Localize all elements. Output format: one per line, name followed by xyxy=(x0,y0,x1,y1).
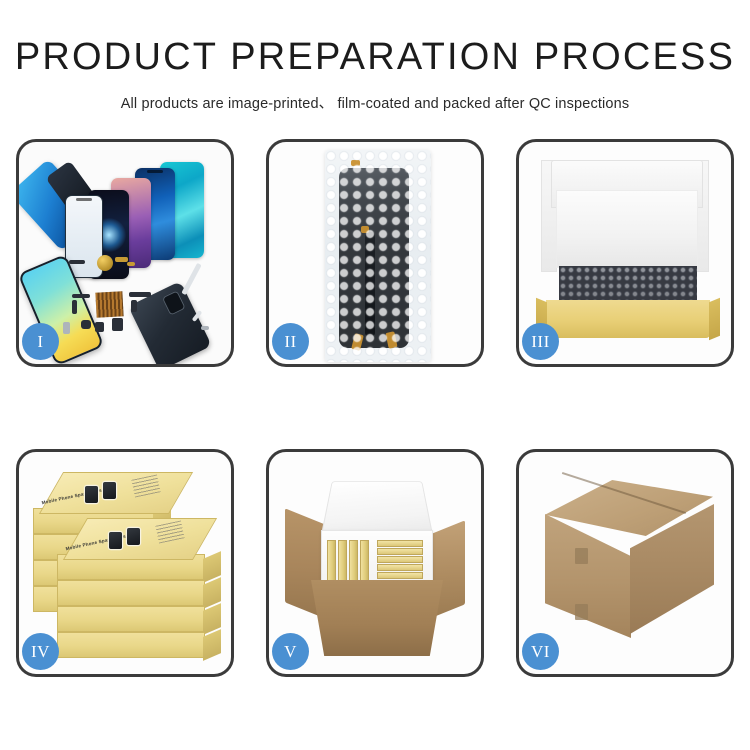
process-step-panel-1: I xyxy=(16,139,234,367)
retail-box-flat xyxy=(377,572,423,579)
part-sim-tray xyxy=(63,322,70,334)
part-strip xyxy=(69,260,85,264)
step-badge-5: V xyxy=(272,633,309,670)
retail-box-flat xyxy=(377,548,423,555)
step-badge-2: II xyxy=(272,323,309,360)
part-button xyxy=(81,320,91,329)
box-screen-print-d xyxy=(127,528,140,545)
part-cable-arm xyxy=(72,300,77,314)
bubble-texture xyxy=(325,150,431,362)
carton-body xyxy=(311,580,443,656)
part-connector xyxy=(127,262,135,266)
box-screen-print-c xyxy=(109,532,122,549)
header: PRODUCT PREPARATION PROCESS All products… xyxy=(0,0,750,113)
retail-box-flat xyxy=(377,540,423,547)
page-subtitle: All products are image-printed、 film-coa… xyxy=(0,92,750,113)
camera-module-icon xyxy=(162,290,186,315)
box-screen-print-a xyxy=(85,486,98,503)
part-flex-gold xyxy=(115,257,128,262)
box-layer xyxy=(57,632,205,658)
process-step-panel-2: II xyxy=(266,139,484,367)
step-badge-4: IV xyxy=(22,633,59,670)
retail-box-upright xyxy=(349,540,358,582)
speaker-module xyxy=(97,255,113,271)
box-top-front xyxy=(63,518,217,560)
part-vibrator xyxy=(95,322,104,332)
part-ribbon xyxy=(129,292,151,297)
bubble-wrap-bag xyxy=(325,150,431,362)
retail-box-upright xyxy=(338,540,347,582)
notch-icon xyxy=(147,170,163,173)
carton-tape-patch-lower xyxy=(575,604,588,620)
retail-box-upright xyxy=(327,540,336,582)
product-preparation-process-infographic: PRODUCT PREPARATION PROCESS All products… xyxy=(0,0,750,750)
tweezers-icon xyxy=(181,263,201,295)
box-stack: Mobile Phone Spare Parts Mobile Phone Sp… xyxy=(27,468,227,664)
step-badge-1: I xyxy=(22,323,59,360)
part-cable xyxy=(72,294,90,298)
yellow-box-front xyxy=(546,300,710,338)
page-title: PRODUCT PREPARATION PROCESS xyxy=(0,38,750,78)
screw-tray xyxy=(95,291,123,317)
process-step-grid: I II xyxy=(16,139,734,677)
process-step-panel-5: V xyxy=(266,449,484,677)
notch-icon xyxy=(76,198,92,201)
box-layer xyxy=(57,580,205,606)
retail-box-flat xyxy=(377,556,423,563)
step-badge-3: III xyxy=(522,323,559,360)
box-layer xyxy=(57,606,205,632)
step-badge-6: VI xyxy=(522,633,559,670)
process-step-panel-4: Mobile Phone Spare Parts Mobile Phone Sp… xyxy=(16,449,234,677)
part-screws xyxy=(201,326,209,330)
carton-tape-patch-upper xyxy=(575,548,588,564)
carton-left-face xyxy=(545,514,631,638)
retail-box-upright xyxy=(360,540,369,582)
white-foam-sheet xyxy=(556,190,698,268)
process-step-panel-3: III xyxy=(516,139,734,367)
dark-foam-insert xyxy=(559,266,697,302)
process-step-panel-6: VI xyxy=(516,449,734,677)
retail-box-flat xyxy=(377,564,423,571)
part-ribbon-arm xyxy=(131,300,137,312)
part-camera xyxy=(112,318,123,331)
box-screen-print-b xyxy=(103,482,116,499)
foam-box-lid xyxy=(321,481,433,535)
box-top-rear xyxy=(39,472,193,514)
